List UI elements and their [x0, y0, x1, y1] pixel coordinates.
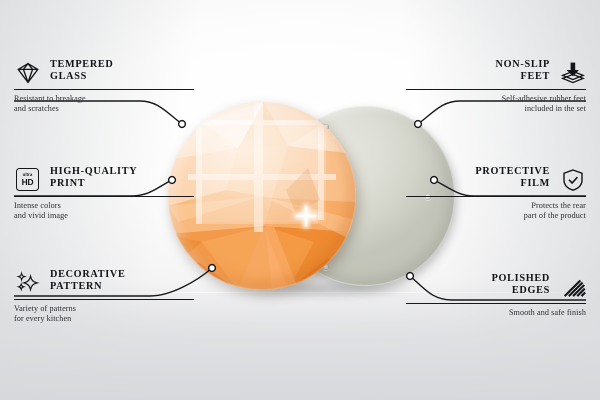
feature-divider — [14, 196, 194, 197]
polished-edge-hatch-icon — [559, 273, 586, 300]
feature-description: Protects the rear part of the product — [406, 201, 586, 221]
badge-hd-label: HD — [22, 178, 34, 186]
feature-title: POLISHED EDGES — [492, 272, 550, 298]
sparkle-highlight — [296, 206, 316, 226]
infographic-canvas: TEMPERED GLASS Resistant to breakage and… — [0, 0, 600, 400]
feature-description: Intense colors and vivid image — [14, 201, 194, 221]
press-down-feet-icon — [559, 59, 586, 86]
diamond-icon — [14, 59, 41, 86]
shield-check-icon — [559, 166, 586, 193]
feature-polished-edges: POLISHED EDGES Smooth and safe finish — [406, 272, 586, 318]
feature-divider — [14, 89, 194, 90]
feature-divider — [406, 196, 586, 197]
feature-title: DECORATIVE PATTERN — [50, 268, 126, 294]
feature-description: Resistant to breakage and scratches — [14, 94, 194, 114]
glass-edge-shading — [168, 102, 356, 290]
feature-divider — [14, 299, 194, 300]
feature-title: PROTECTIVE FILM — [475, 165, 550, 191]
feature-decorative-pattern: DECORATIVE PATTERN Variety of patterns f… — [14, 268, 194, 324]
feature-description: Smooth and safe finish — [406, 308, 586, 318]
feature-divider — [406, 89, 586, 90]
feature-divider — [406, 303, 586, 304]
feature-non-slip-feet: NON-SLIP FEET Self-adhesive rubber feet … — [406, 58, 586, 114]
feature-description: Variety of patterns for every kitchen — [14, 304, 194, 324]
feature-tempered-glass: TEMPERED GLASS Resistant to breakage and… — [14, 58, 194, 114]
feature-description: Self-adhesive rubber feet included in th… — [406, 94, 586, 114]
feature-title: NON-SLIP FEET — [496, 58, 550, 84]
sparkles-icon — [14, 269, 41, 296]
feature-title: HIGH-QUALITY PRINT — [50, 165, 137, 191]
feature-high-quality-print: ultra HD HIGH-QUALITY PRINT Intense colo… — [14, 165, 194, 221]
feature-title: TEMPERED GLASS — [50, 58, 114, 84]
feature-protective-film: PROTECTIVE FILM Protects the rear part o… — [406, 165, 586, 221]
ultra-hd-badge-icon: ultra HD — [14, 166, 41, 193]
front-glass-disc — [168, 102, 356, 290]
